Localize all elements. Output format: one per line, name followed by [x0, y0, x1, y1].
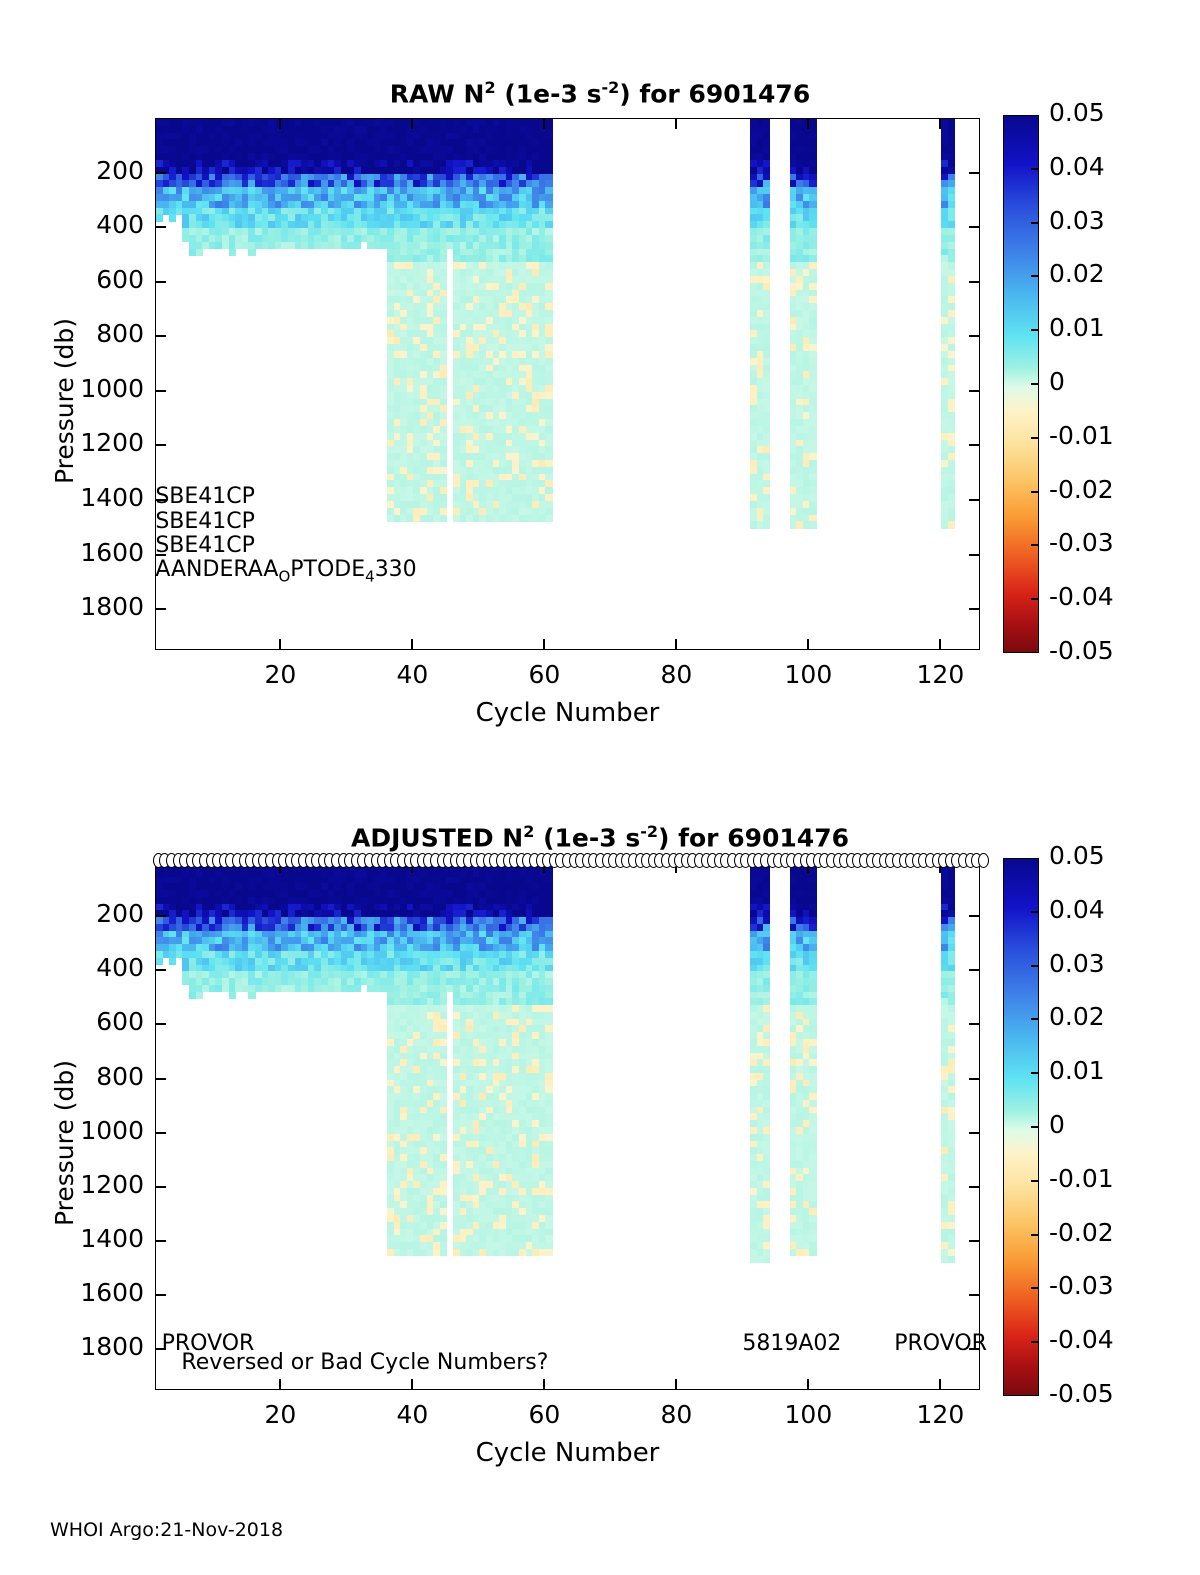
- colorbar-label: -0.03: [1049, 528, 1114, 557]
- colorbar-label: 0.01: [1049, 313, 1105, 342]
- y-tick: [155, 608, 166, 610]
- y-tick: [155, 444, 166, 446]
- colorbar-label: 0: [1049, 367, 1065, 396]
- heatmap-cell: [156, 214, 163, 221]
- annotation-sensor-1: SBE41CP: [155, 484, 255, 509]
- y-tick-label: 1800: [10, 592, 144, 621]
- plot-axes-adjusted: [155, 862, 980, 1390]
- colorbar-tick: [1031, 437, 1039, 439]
- colorbar-label: 0.03: [1049, 206, 1105, 235]
- heatmap-cell: [248, 992, 255, 999]
- annotation-sensor-2: SBE41CP: [155, 509, 255, 534]
- heatmap-cell: [440, 515, 447, 522]
- heatmap-cell: [354, 242, 361, 249]
- y-tick-label: 200: [10, 156, 144, 185]
- colorbar-label: 0.05: [1049, 98, 1105, 127]
- colorbar-tick: [1031, 544, 1039, 546]
- x-tick: [279, 639, 281, 650]
- title-text: ADJUSTED N: [351, 823, 523, 852]
- footer-credit: WHOI Argo:21-Nov-2018: [50, 1519, 283, 1541]
- y-tick-right: [969, 554, 980, 556]
- y-tick-right: [969, 499, 980, 501]
- x-tick-top: [411, 118, 413, 129]
- y-tick-right: [969, 444, 980, 446]
- heatmap-cell: [440, 1249, 447, 1256]
- colorbar-tick: [1031, 383, 1039, 385]
- x-tick-label: 40: [367, 660, 457, 689]
- y-tick-right: [969, 608, 980, 610]
- x-tick-top: [279, 118, 281, 129]
- x-tick-label: 80: [631, 660, 721, 689]
- heatmap-cell: [354, 985, 361, 992]
- x-tick-top: [675, 118, 677, 129]
- heatmap-cell: [763, 1256, 770, 1263]
- colorbar-label: -0.05: [1049, 636, 1114, 665]
- x-tick: [807, 639, 809, 650]
- y-tick-label: 400: [10, 210, 144, 239]
- y-tick-right: [969, 226, 980, 228]
- x-tick-top: [543, 118, 545, 129]
- y-tick-label: 1400: [10, 483, 144, 512]
- y-tick-right: [969, 281, 980, 283]
- x-tick-label: 100: [763, 660, 853, 689]
- colorbar-label: -0.04: [1049, 582, 1114, 611]
- y-tick-right: [969, 390, 980, 392]
- colorbar-tick: [1031, 491, 1039, 493]
- heatmap-cell: [809, 521, 816, 528]
- y-tick: [155, 226, 166, 228]
- y-tick: [155, 172, 166, 174]
- colorbar-label: -0.01: [1049, 421, 1114, 450]
- heatmap-cell: [196, 249, 203, 256]
- x-tick-label: 120: [895, 660, 985, 689]
- heatmap-cell: [948, 521, 955, 528]
- x-tick: [939, 639, 941, 650]
- y-tick-label: 600: [10, 265, 144, 294]
- y-tick: [155, 335, 166, 337]
- colorbar-label: 0.02: [1049, 259, 1105, 288]
- x-tick: [543, 639, 545, 650]
- heatmap-cell: [156, 958, 163, 965]
- heatmap-cell: [169, 214, 176, 221]
- x-tick-label: 60: [499, 660, 589, 689]
- y-tick-right: [969, 335, 980, 337]
- y-axis-label: Pressure (db): [50, 318, 79, 484]
- x-axis-label: Cycle Number: [155, 698, 980, 728]
- x-tick-top: [939, 118, 941, 129]
- x-tick-top: [807, 118, 809, 129]
- heatmap-cell: [229, 249, 236, 256]
- y-tick: [155, 390, 166, 392]
- y-tick: [155, 281, 166, 283]
- heatmap-cell: [169, 958, 176, 965]
- colorbar-label: -0.02: [1049, 475, 1114, 504]
- annotation-sensor-3: SBE41CP: [155, 533, 255, 558]
- x-tick: [675, 639, 677, 650]
- title-text: RAW N: [390, 79, 485, 108]
- plot-title: RAW N2 (1e-3 s-2) for 6901476: [0, 78, 1200, 108]
- heatmap-cell: [545, 1249, 552, 1256]
- x-tick: [411, 639, 413, 650]
- colorbar-label: 0.04: [1049, 152, 1105, 181]
- y-tick-right: [969, 172, 980, 174]
- plot-title: ADJUSTED N2 (1e-3 s-2) for 6901476: [0, 822, 1200, 852]
- colorbar-tick: [1031, 222, 1039, 224]
- y-tick-label: 1600: [10, 538, 144, 567]
- heatmap-cell: [196, 992, 203, 999]
- heatmap-cell: [229, 992, 236, 999]
- colorbar-tick: [1031, 275, 1039, 277]
- colorbar-tick: [1031, 598, 1039, 600]
- colorbar-tick: [1031, 168, 1039, 170]
- heatmap-adjusted: [156, 863, 979, 1389]
- colorbar-tick: [1031, 329, 1039, 331]
- heatmap-cell: [248, 249, 255, 256]
- x-tick-label: 20: [235, 660, 325, 689]
- heatmap-cell: [763, 521, 770, 528]
- heatmap-cell: [545, 515, 552, 522]
- annotation-sensor-4: AANDERAAOPTODE4330: [155, 557, 416, 585]
